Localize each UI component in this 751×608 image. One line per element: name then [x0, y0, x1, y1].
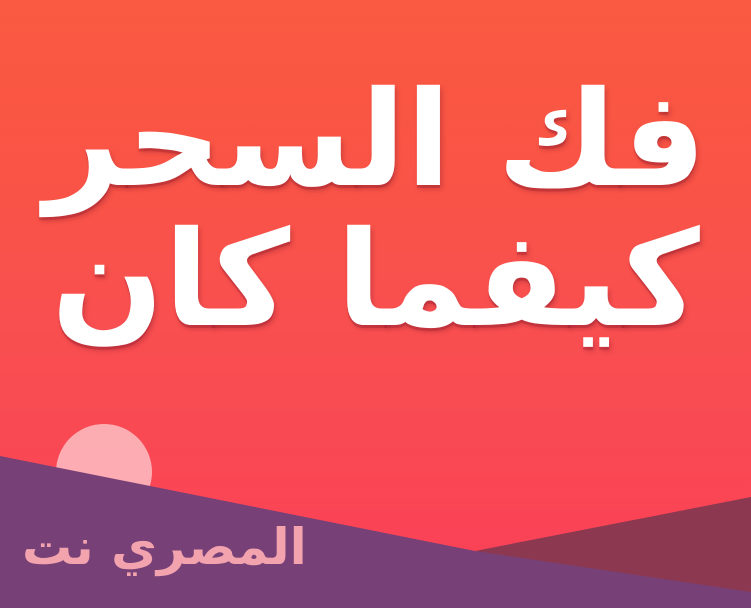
headline-line-1: فك السحر: [0, 74, 751, 206]
site-watermark: المصري نت: [22, 522, 307, 572]
poster-canvas: فك السحر كيفما كان المصري نت: [0, 0, 751, 608]
headline: فك السحر كيفما كان: [0, 74, 751, 346]
glyph-overlap-blob: [56, 424, 152, 520]
purple-band: [0, 0, 751, 608]
headline-line-2: كيفما كان: [0, 214, 751, 346]
maroon-band: [0, 0, 751, 608]
